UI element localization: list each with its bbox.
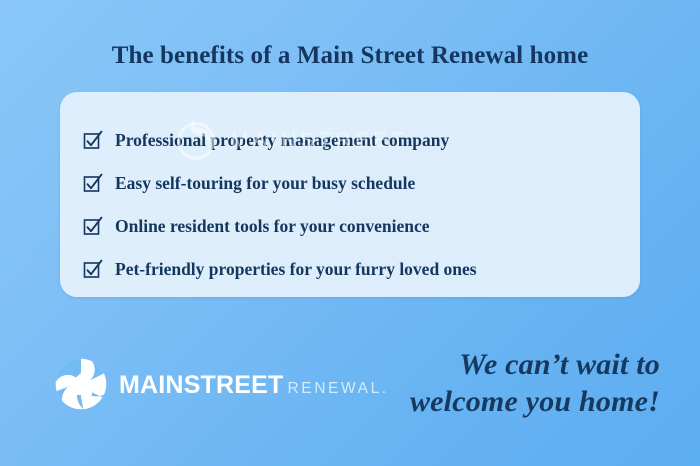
promotional-poster: The benefits of a Main Street Renewal ho… [0,0,700,466]
list-item: Online resident tools for your convenien… [82,204,640,247]
checkbox-checked-icon [82,215,104,237]
logo-name-accent: STREET [184,371,284,399]
logo-name-line: MAINSTREET [119,371,284,399]
list-item-label: Online resident tools for your convenien… [115,216,430,236]
logo-name-main: MAIN [119,371,184,399]
benefits-list: Professional property management company… [60,92,640,290]
tagline-line-2: welcome you home! [410,383,660,420]
tagline: We can’t wait to welcome you home! [410,346,660,420]
logo-wordmark: MAINSTREET RENEWAL. [119,370,389,398]
mainstreet-swirl-house-icon [54,357,108,411]
checkbox-checked-icon [82,172,104,194]
tagline-line-1: We can’t wait to [410,346,660,383]
page-title: The benefits of a Main Street Renewal ho… [0,41,700,71]
checkbox-checked-icon [82,258,104,280]
benefits-card: Professional property management company… [60,92,640,297]
logo-name-sub: RENEWAL. [288,380,389,397]
list-item-label: Easy self-touring for your busy schedule [115,173,415,193]
list-item: Easy self-touring for your busy schedule [82,161,640,204]
list-item-label: Pet-friendly properties for your furry l… [115,259,477,279]
list-item-label: Professional property management company [115,130,449,150]
list-item: Pet-friendly properties for your furry l… [82,247,640,290]
mainstreet-renewal-logo: MAINSTREET RENEWAL. [54,357,389,411]
list-item: Professional property management company [82,118,640,161]
checkbox-checked-icon [82,129,104,151]
